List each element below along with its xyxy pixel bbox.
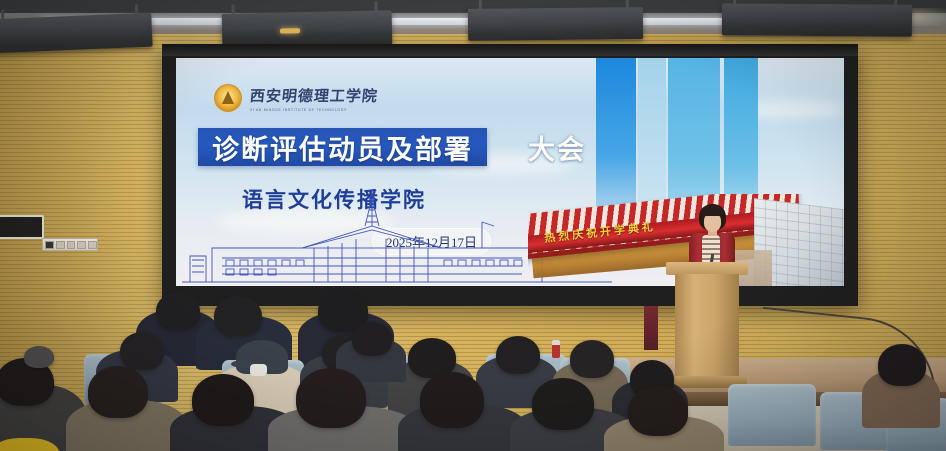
ceiling-light-fixture — [222, 10, 393, 48]
logo-english-name: XI'AN MINGDE INSTITUTE OF TECHNOLOGY — [250, 108, 378, 112]
slide-logo: 西安明德理工学院 XI'AN MINGDE INSTITUTE OF TECHN… — [214, 84, 378, 112]
wall-vent-panel — [0, 215, 44, 239]
ceiling-light-fixture — [0, 13, 153, 54]
presentation-slide: 西安明德理工学院 XI'AN MINGDE INSTITUTE OF TECHN… — [176, 58, 844, 286]
screen-bezel — [162, 44, 858, 56]
university-emblem-icon — [214, 84, 242, 112]
audience-head — [570, 340, 614, 378]
audience-head — [420, 372, 484, 428]
slide-title-overflow-wrap: 大会 — [528, 128, 586, 166]
switch-toggle[interactable] — [67, 241, 76, 249]
hair-clip — [24, 346, 54, 368]
water-bottle — [552, 340, 560, 358]
slide-title-banner: 诊断评估动员及部署 — [198, 128, 487, 166]
audience-head — [352, 322, 392, 356]
audience-head — [120, 332, 164, 370]
audience-head — [88, 366, 148, 418]
switch-toggle[interactable] — [45, 241, 54, 249]
switch-toggle[interactable] — [88, 241, 97, 249]
slide-title-overflow: 大会 — [528, 128, 586, 167]
audience-head — [628, 386, 688, 436]
light-switch-panel[interactable] — [42, 238, 98, 251]
projection-screen: 西安明德理工学院 XI'AN MINGDE INSTITUTE OF TECHN… — [162, 44, 858, 306]
audience-head — [156, 292, 200, 330]
logo-chinese-name: 西安明德理工学院 — [249, 85, 379, 106]
audience-head — [496, 336, 540, 374]
face-mask — [250, 364, 267, 376]
audience-head — [192, 374, 254, 426]
auditorium-seat[interactable] — [728, 384, 816, 446]
speaker-fringe — [700, 206, 725, 216]
slide-title: 诊断评估动员及部署 — [212, 128, 473, 167]
audience-head — [296, 368, 366, 428]
ceiling-tube-light — [40, 18, 800, 25]
audience — [0, 288, 946, 451]
lamp-glow — [280, 28, 300, 33]
audience-head — [532, 378, 594, 430]
ceiling-light-fixture — [468, 7, 643, 41]
ceiling-light-fixture — [722, 3, 912, 36]
switch-toggle[interactable] — [56, 241, 65, 249]
audience-head — [214, 296, 262, 336]
audience-head — [878, 344, 926, 386]
auditorium-scene: 西安明德理工学院 XI'AN MINGDE INSTITUTE OF TECHN… — [0, 0, 946, 451]
switch-toggle[interactable] — [77, 241, 86, 249]
